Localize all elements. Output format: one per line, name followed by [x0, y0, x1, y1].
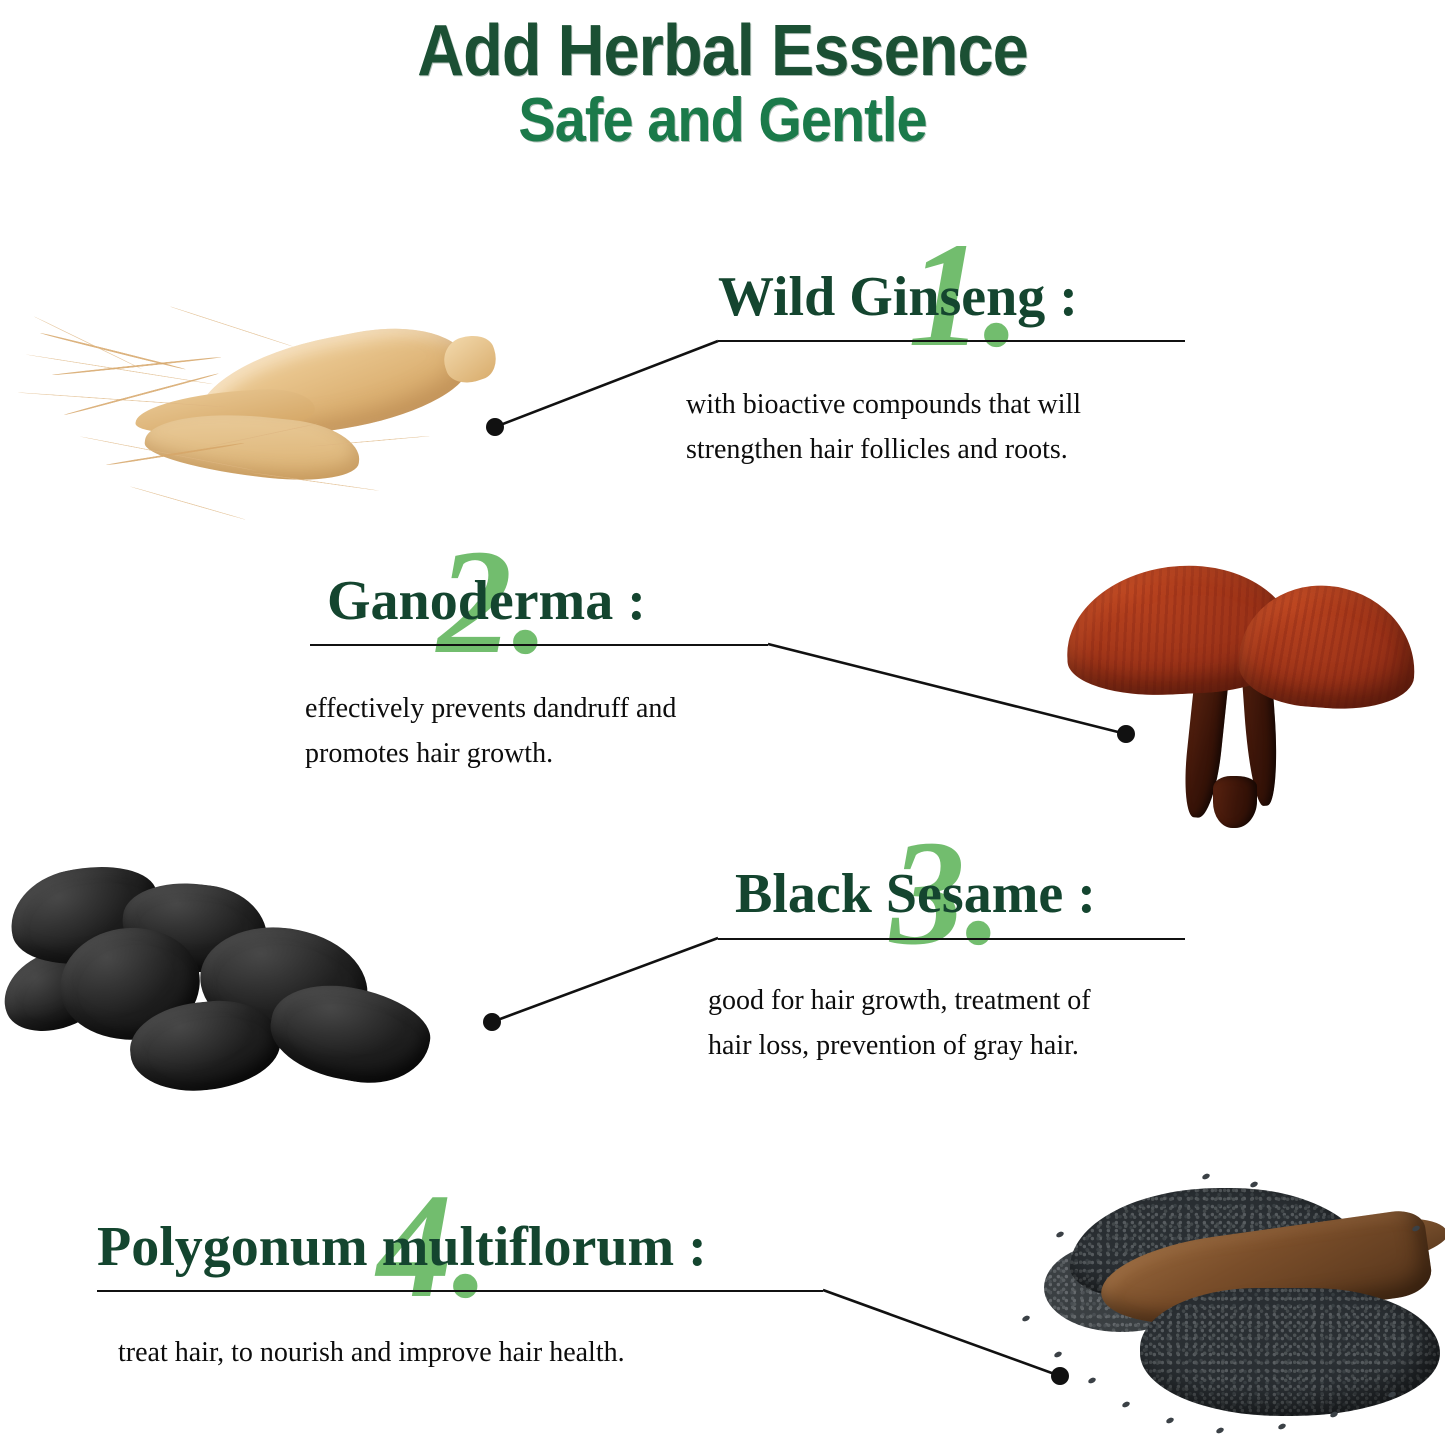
title-line-2: Safe and Gentle — [72, 88, 1373, 154]
section-polygonum-multiflorum: 4. Polygonum multiflorum : — [97, 1215, 707, 1279]
sesame-seed — [1053, 1351, 1062, 1359]
section-wild-ginseng: 1. Wild Ginseng : — [718, 265, 1078, 329]
section-rule-3 — [718, 938, 1185, 940]
heading-wrap-1: 1. Wild Ginseng : — [718, 265, 1078, 329]
heading-wrap-4: 4. Polygonum multiflorum : — [97, 1215, 707, 1279]
heading-wrap-3: 3. Black Sesame : — [735, 862, 1096, 926]
connector-dot-3 — [483, 1013, 501, 1031]
section-rule-4 — [97, 1290, 823, 1292]
section-body-3: good for hair growth, treatment of hair … — [708, 978, 1228, 1068]
page-title: Add Herbal Essence Safe and Gentle — [0, 14, 1445, 154]
sesame-seed — [1165, 1417, 1174, 1425]
sesame-seed — [1215, 1427, 1224, 1435]
ginseng-root-image — [10, 296, 510, 516]
section-rule-1 — [718, 340, 1185, 342]
title-line-1: Add Herbal Essence — [72, 14, 1373, 88]
section-heading-1: Wild Ginseng : — [718, 265, 1078, 329]
sesame-seed — [1021, 1315, 1030, 1323]
section-heading-3: Black Sesame : — [735, 862, 1096, 926]
reishi-stem-base — [1213, 776, 1257, 828]
section-body-1: with bioactive compounds that will stren… — [686, 382, 1206, 472]
section-black-sesame: 3. Black Sesame : — [735, 862, 1096, 926]
ginseng-rootlet — [40, 332, 186, 370]
sesame-seed — [1121, 1401, 1130, 1409]
section-heading-4: Polygonum multiflorum : — [97, 1215, 707, 1279]
sesame-seed — [1249, 1181, 1258, 1189]
sesame-seed — [1277, 1423, 1286, 1431]
section-ganoderma: 2. Ganoderma : — [327, 569, 646, 633]
black-slices-image — [2, 856, 462, 1106]
section-heading-2: Ganoderma : — [327, 569, 646, 633]
section-rule-2 — [310, 644, 768, 646]
section-body-4: treat hair, to nourish and improve hair … — [118, 1330, 878, 1375]
section-body-2: effectively prevents dandruff and promot… — [305, 686, 825, 776]
ganoderma-mushroom-image — [1048, 548, 1418, 830]
ginseng-rootlet — [170, 306, 294, 347]
sesame-seed — [1087, 1377, 1096, 1385]
infographic-page: Add Herbal Essence Safe and Gentle 1. Wi… — [0, 0, 1445, 1445]
black-sesame-seeds-image — [992, 1166, 1444, 1445]
sesame-pile — [1140, 1288, 1440, 1416]
ginseng-rootlet — [34, 316, 142, 370]
ginseng-rootlet — [130, 486, 246, 520]
heading-wrap-2: 2. Ganoderma : — [327, 569, 646, 633]
sesame-seed — [1055, 1231, 1064, 1239]
sesame-seed — [1201, 1173, 1210, 1181]
